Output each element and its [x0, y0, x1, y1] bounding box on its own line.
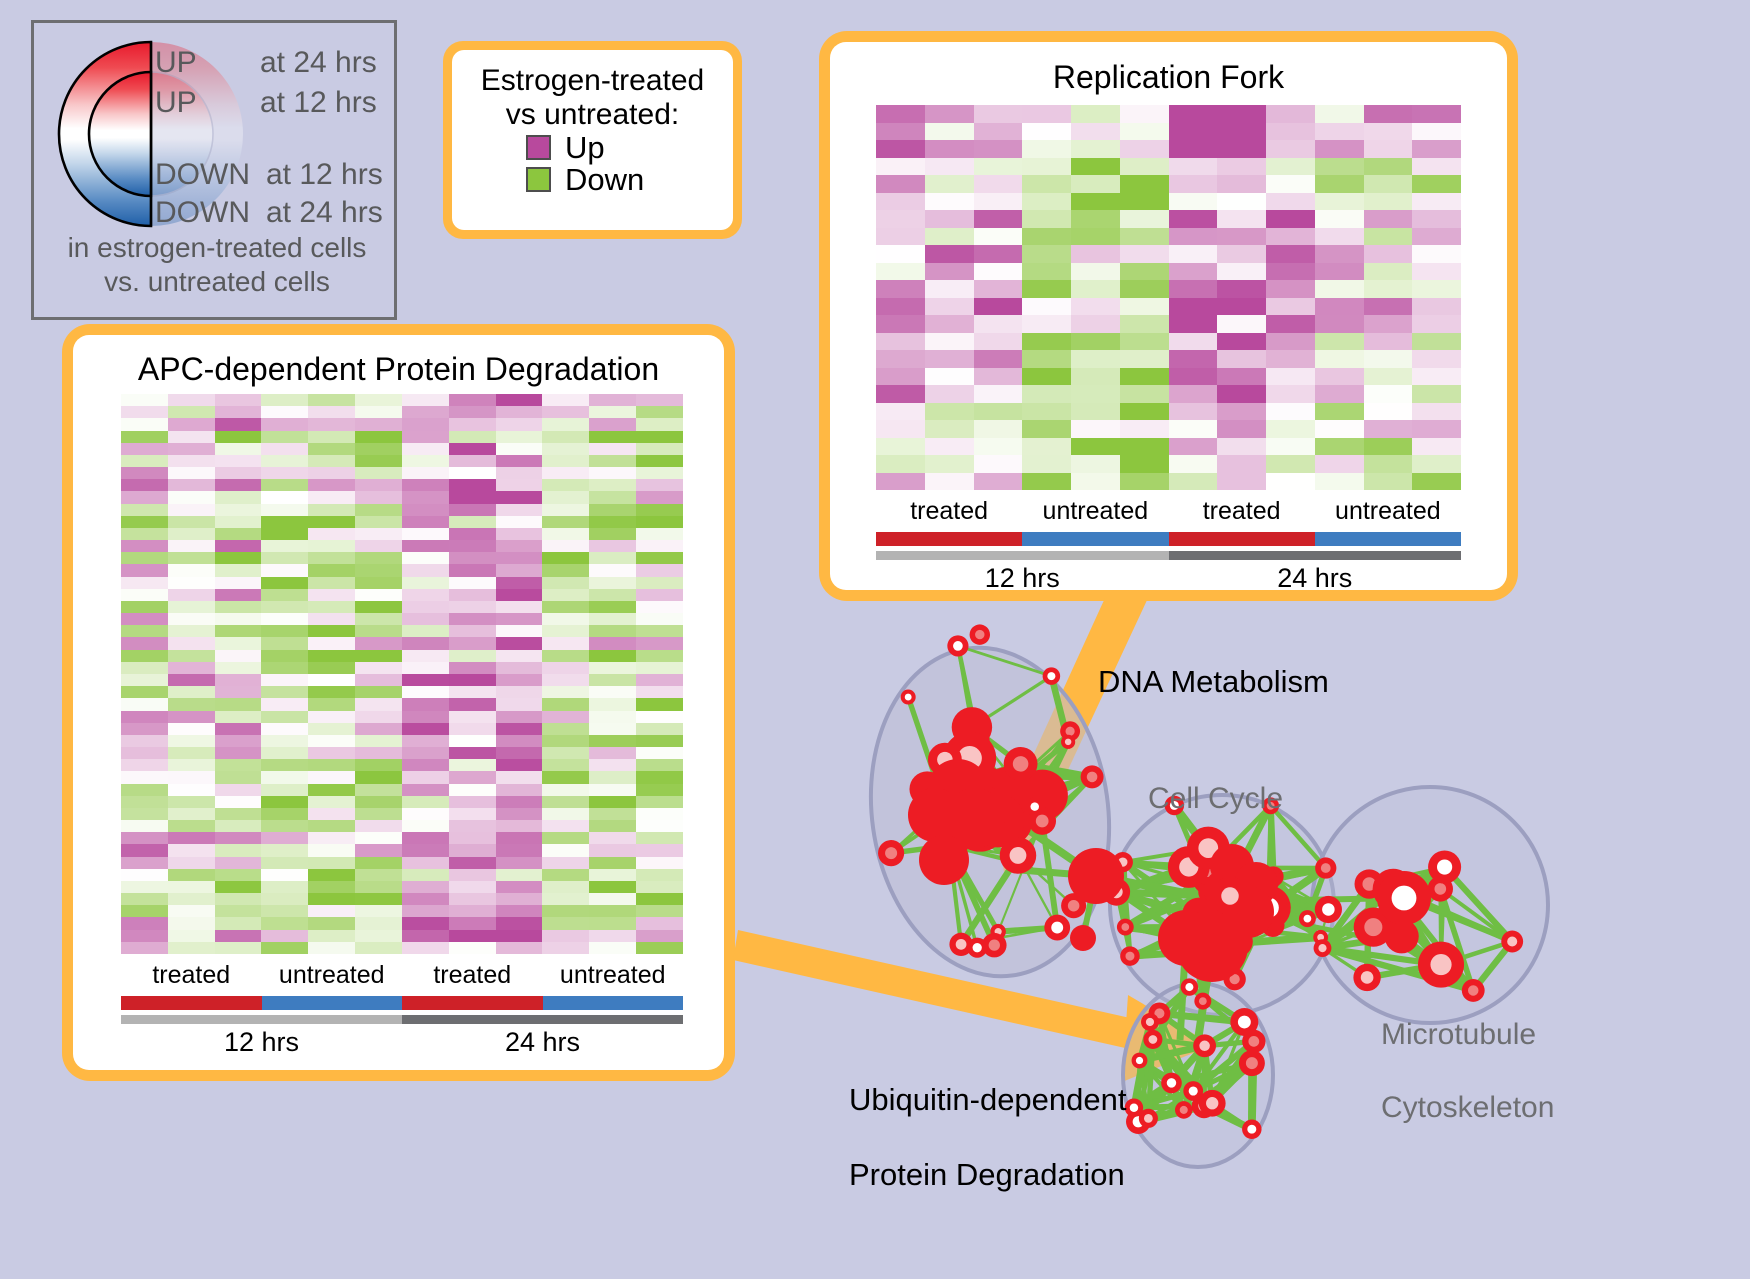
heatmap-cell	[355, 893, 402, 905]
network-edge	[1140, 987, 1190, 1060]
network-node	[1234, 862, 1278, 906]
heatmap-cell	[1266, 298, 1315, 316]
heatmap-cell	[542, 613, 589, 625]
heatmap-cell	[121, 637, 168, 649]
network-node	[1261, 914, 1284, 937]
heatmap-cell	[355, 905, 402, 917]
heatmap-cell	[496, 443, 543, 455]
network-edge	[1222, 868, 1231, 897]
heatmap-cell	[1315, 228, 1364, 246]
network-edge	[970, 758, 971, 789]
network-edge	[1402, 936, 1441, 964]
heatmap-cell	[1217, 263, 1266, 281]
cluster-ellipse	[1123, 983, 1273, 1167]
heatmap-cell	[449, 808, 496, 820]
heatmap-cell	[355, 832, 402, 844]
network-edge	[971, 789, 1042, 795]
heatmap-cell	[542, 796, 589, 808]
heatmap-cell	[636, 637, 683, 649]
heatmap-cell	[974, 105, 1023, 123]
heatmap-cell	[636, 698, 683, 710]
heatmap-cell	[1120, 315, 1169, 333]
network-node	[1205, 880, 1240, 915]
heatmap-cell	[1412, 228, 1461, 246]
heatmap-cell	[1364, 438, 1413, 456]
heatmap-cell	[1071, 315, 1120, 333]
heatmap-cell	[636, 808, 683, 820]
heatmap-cell	[496, 589, 543, 601]
network-node	[1385, 919, 1419, 953]
heatmap-cell	[449, 418, 496, 430]
heatmap-cell	[168, 613, 215, 625]
network-node	[1181, 978, 1198, 995]
network-edge	[1134, 1039, 1153, 1107]
heatmap-cell	[542, 540, 589, 552]
heatmap-cell	[589, 881, 636, 893]
network-edge	[1140, 1046, 1205, 1061]
network-node	[1263, 866, 1283, 886]
heatmap-cell	[449, 650, 496, 662]
heatmap-cell	[542, 491, 589, 503]
heatmap-cell	[1364, 245, 1413, 263]
network-edge	[1199, 914, 1203, 1001]
network-edge	[1322, 884, 1369, 948]
heatmap-cell	[121, 540, 168, 552]
network-edge	[1222, 877, 1273, 898]
heatmap-cell	[121, 881, 168, 893]
network-edge	[1222, 897, 1225, 952]
network-edge	[1441, 867, 1445, 965]
network-edge	[1223, 890, 1225, 911]
heatmap-apc	[121, 394, 683, 954]
network-edge	[1223, 925, 1273, 944]
heatmap-cell	[402, 577, 449, 589]
heatmap-cell	[1412, 193, 1461, 211]
heatmap-cell	[496, 491, 543, 503]
heatmap-cell	[636, 625, 683, 637]
network-node	[1143, 1030, 1162, 1049]
heatmap-cell	[1266, 350, 1315, 368]
network-edge	[1225, 890, 1235, 979]
sphere-legend-note: in estrogen-treated cells vs. untreated …	[34, 231, 400, 299]
heatmap-cell	[308, 589, 355, 601]
network-edge	[941, 797, 942, 808]
heatmap-cell	[261, 662, 308, 674]
heatmap-cell	[636, 711, 683, 723]
network-edge	[1321, 909, 1329, 937]
network-edge	[1184, 1063, 1252, 1110]
heatmap-cell	[542, 747, 589, 759]
heatmap-cell	[261, 820, 308, 832]
heatmap-cell	[1169, 105, 1218, 123]
heatmap-cell	[168, 455, 215, 467]
heatmap-cell	[121, 650, 168, 662]
network-edge	[1184, 1106, 1204, 1110]
heatmap-cell	[121, 418, 168, 430]
heatmap-cell	[261, 844, 308, 856]
heatmap-cell	[121, 443, 168, 455]
heatmap-cell	[402, 479, 449, 491]
heatmap-cell	[974, 263, 1023, 281]
network-node	[932, 799, 949, 816]
network-edge	[1116, 892, 1198, 914]
heatmap-cell	[355, 650, 402, 662]
network-node	[931, 827, 968, 864]
heatmap-cell	[1217, 455, 1266, 473]
network-node	[1218, 862, 1244, 888]
heatmap-cell	[449, 491, 496, 503]
network-edge	[1228, 950, 1234, 979]
heatmap-cell	[496, 784, 543, 796]
heatmap-cell	[402, 431, 449, 443]
network-edge	[1402, 889, 1441, 936]
heatmap-cell	[308, 516, 355, 528]
heatmap-cell	[636, 784, 683, 796]
network-edge	[1134, 1022, 1150, 1108]
heatmap-cell	[876, 438, 925, 456]
network-edge	[971, 789, 1015, 861]
heatmap-cell	[542, 589, 589, 601]
heatmap-cell	[261, 674, 308, 686]
heatmap-cell	[168, 832, 215, 844]
heatmap-cell	[121, 759, 168, 771]
network-edge	[1153, 1039, 1172, 1082]
heatmap-cell	[925, 245, 974, 263]
heatmap-cell	[402, 796, 449, 808]
network-edge	[1223, 908, 1269, 911]
heatmap-cell	[168, 577, 215, 589]
network-edge	[1188, 897, 1226, 935]
network-edge	[1216, 872, 1269, 907]
heatmap-cell	[1120, 140, 1169, 158]
network-edge	[970, 758, 983, 810]
heatmap-cell	[1266, 403, 1315, 421]
network-edge	[941, 808, 1011, 823]
heatmap-cell	[355, 747, 402, 759]
legend-item-up: Up	[526, 132, 723, 163]
network-edge	[977, 776, 1092, 777]
heatmap-cell	[1071, 123, 1120, 141]
heatmap-cell	[1364, 298, 1413, 316]
network-edge	[1212, 1022, 1244, 1103]
heatmap-cell	[402, 674, 449, 686]
heatmap-cell	[168, 431, 215, 443]
heatmap-cell	[589, 808, 636, 820]
heatmap-cell	[261, 698, 308, 710]
heatmap-cell	[168, 540, 215, 552]
heatmap-cell	[355, 467, 402, 479]
heatmap-cell	[1364, 385, 1413, 403]
heatmap-cell	[168, 869, 215, 881]
network-edge	[1216, 872, 1223, 897]
network-node	[1242, 1119, 1261, 1138]
heatmap-cell	[974, 455, 1023, 473]
network-edge	[1042, 777, 1092, 821]
heatmap-cell	[1169, 158, 1218, 176]
heatmap-cell	[215, 637, 262, 649]
network-edge	[1195, 871, 1224, 930]
network-edge	[1223, 909, 1328, 910]
network-edge	[949, 795, 1042, 845]
network-node	[1210, 898, 1237, 925]
network-edge	[1208, 848, 1231, 868]
network-edge	[1212, 1041, 1254, 1103]
network-node	[1373, 869, 1414, 910]
network-edge	[1219, 926, 1320, 937]
heatmap-cell	[1169, 263, 1218, 281]
heatmap-cell	[496, 796, 543, 808]
network-node	[1210, 844, 1254, 888]
heatmap-cell	[496, 467, 543, 479]
heatmap-cell	[542, 723, 589, 735]
heatmap-cell	[449, 747, 496, 759]
column-group-label: treated	[121, 961, 262, 990]
heatmap-cell	[496, 808, 543, 820]
heatmap-cell	[542, 735, 589, 747]
network-edge	[1204, 1046, 1205, 1106]
heatmap-cell	[261, 650, 308, 662]
heatmap-cell	[636, 857, 683, 869]
heatmap-cell	[355, 577, 402, 589]
heatmap-cell	[261, 601, 308, 613]
network-edge	[985, 800, 1096, 876]
heatmap-cell	[496, 735, 543, 747]
heatmap-cell	[589, 917, 636, 929]
heatmap-cell	[261, 881, 308, 893]
network-edge	[1150, 1013, 1159, 1022]
network-edge	[1218, 908, 1268, 945]
heatmap-cell	[355, 698, 402, 710]
network-node	[971, 793, 1025, 847]
network-edge	[1195, 868, 1232, 930]
network-edge	[1231, 868, 1328, 910]
network-edge	[1322, 927, 1373, 948]
heatmap-cell	[308, 504, 355, 516]
network-edge	[1193, 1091, 1212, 1103]
heatmap-cell	[974, 228, 1023, 246]
network-edge	[970, 758, 1043, 821]
column-group-label: untreated	[1022, 497, 1168, 526]
network-edge	[1225, 868, 1231, 897]
network-edge	[1199, 848, 1208, 914]
heatmap-cell	[1022, 298, 1071, 316]
heatmap-cell	[496, 650, 543, 662]
network-node	[1222, 859, 1241, 878]
heatmap-cell	[121, 917, 168, 929]
heatmap-cell	[974, 350, 1023, 368]
network-edge	[983, 764, 1021, 811]
network-edge	[1218, 879, 1268, 944]
network-edge	[1159, 1013, 1171, 1083]
heatmap-cell	[121, 796, 168, 808]
heatmap-cell	[402, 443, 449, 455]
heatmap-cell	[542, 431, 589, 443]
network-node	[1132, 1053, 1148, 1069]
network-node	[1199, 846, 1248, 895]
network-edge	[980, 811, 983, 825]
network-edge	[1021, 764, 1035, 807]
heatmap-cell	[589, 431, 636, 443]
network-node	[1201, 931, 1243, 973]
network-edge	[1393, 867, 1444, 889]
network-edge	[1235, 942, 1238, 980]
heatmap-cell	[1412, 455, 1461, 473]
heatmap-cell	[496, 930, 543, 942]
heatmap-cell	[355, 881, 402, 893]
heatmap-cell	[636, 893, 683, 905]
heatmap-cell	[121, 820, 168, 832]
heatmap-cell	[1315, 158, 1364, 176]
network-edge	[949, 846, 977, 948]
heatmap-cell	[308, 686, 355, 698]
heatmap-cell	[261, 796, 308, 808]
panel-title-replication-fork: Replication Fork	[830, 59, 1507, 96]
heatmap-cell	[1217, 245, 1266, 263]
heatmap-cell	[1315, 105, 1364, 123]
network-edge	[1224, 868, 1232, 871]
heatmap-cell	[1022, 228, 1071, 246]
heatmap-cell	[636, 674, 683, 686]
heatmap-cell	[402, 832, 449, 844]
heatmap-cell	[876, 158, 925, 176]
heatmap-cell	[1169, 473, 1218, 491]
network-edge	[983, 795, 1042, 810]
network-edge	[1204, 1041, 1254, 1106]
heatmap-cell	[925, 263, 974, 281]
heatmap-cell	[449, 698, 496, 710]
network-node	[1182, 898, 1215, 931]
network-edge	[1322, 889, 1393, 948]
network-edge	[1225, 868, 1326, 890]
heatmap-cell	[1315, 193, 1364, 211]
heatmap-cell	[308, 857, 355, 869]
heatmap-cell	[215, 881, 262, 893]
heatmap-cell	[542, 418, 589, 430]
heatmap-cell	[925, 455, 974, 473]
heatmap-cell	[496, 686, 543, 698]
heatmap-cell	[261, 784, 308, 796]
network-edge	[971, 776, 977, 790]
heatmap-cell	[261, 516, 308, 528]
heatmap-cell	[1412, 350, 1461, 368]
heatmap-cell	[496, 881, 543, 893]
heatmap-cell	[636, 723, 683, 735]
heatmap-cell	[876, 280, 925, 298]
heatmap-cell	[496, 406, 543, 418]
heatmap-cell	[1217, 403, 1266, 421]
network-edge	[1440, 889, 1473, 991]
heatmap-cell	[1364, 368, 1413, 386]
network-edge	[941, 808, 980, 824]
heatmap-cell	[449, 893, 496, 905]
network-node	[1070, 925, 1096, 951]
heatmap-cell	[355, 540, 402, 552]
sphere-label-down-12: DOWN	[155, 158, 250, 192]
heatmap-cell	[402, 613, 449, 625]
heatmap-cell	[1022, 350, 1071, 368]
time-color-bar-replication-fork	[876, 551, 1461, 560]
network-edge	[958, 646, 978, 741]
heatmap-cell	[121, 552, 168, 564]
heatmap-cell	[261, 686, 308, 698]
heatmap-cell	[542, 808, 589, 820]
network-edge	[1252, 1041, 1254, 1063]
network-edge	[1193, 1022, 1244, 1091]
network-edge	[1203, 926, 1219, 1001]
heatmap-cell	[1412, 210, 1461, 228]
heatmap-cell	[215, 735, 262, 747]
heatmap-cell	[1022, 438, 1071, 456]
network-edge	[1140, 1022, 1150, 1061]
heatmap-cell	[215, 418, 262, 430]
heatmap-cell	[215, 601, 262, 613]
heatmap-cell	[121, 674, 168, 686]
heatmap-cell	[636, 528, 683, 540]
heatmap-cell	[876, 245, 925, 263]
network-node	[1161, 1073, 1182, 1094]
sphere-time-down-12: at 12 hrs	[266, 158, 383, 192]
heatmap-cell	[1217, 228, 1266, 246]
heatmap-cell	[974, 385, 1023, 403]
heatmap-cell	[308, 431, 355, 443]
heatmap-cell	[1266, 473, 1315, 491]
network-edge	[1208, 870, 1223, 911]
network-node	[1179, 914, 1211, 946]
panel-replication-fork-inner: Replication Fork treateduntreatedtreated…	[830, 42, 1507, 590]
heatmap-cell	[974, 333, 1023, 351]
heatmap-cell	[1315, 315, 1364, 333]
heatmap-cell	[1364, 420, 1413, 438]
network-edge	[1188, 935, 1229, 950]
network-node	[1242, 1030, 1265, 1053]
network-edge	[1269, 877, 1274, 879]
network-edge	[1123, 862, 1227, 892]
heatmap-cell	[308, 577, 355, 589]
heatmap-cell	[1412, 315, 1461, 333]
network-edge	[1189, 867, 1223, 897]
network-edge	[1269, 879, 1308, 919]
network-edge	[1189, 848, 1208, 867]
network-node	[952, 797, 1007, 852]
heatmap-cell	[925, 385, 974, 403]
network-edge	[1223, 871, 1224, 944]
heatmap-cell	[168, 771, 215, 783]
network-node	[1060, 721, 1080, 741]
heatmap-cell	[542, 820, 589, 832]
heatmap-cell	[1217, 210, 1266, 228]
heatmap-cell	[1364, 140, 1413, 158]
heatmap-cell	[589, 479, 636, 491]
heatmap-cell	[215, 613, 262, 625]
heatmap-cell	[589, 564, 636, 576]
heatmap-cell	[1071, 333, 1120, 351]
heatmap-cell	[402, 784, 449, 796]
panel-apc-degradation: APC-dependent Protein Degradation treate…	[62, 324, 735, 1081]
network-edge	[1204, 1106, 1252, 1129]
heatmap-cell	[449, 674, 496, 686]
heatmap-cell	[449, 942, 496, 954]
heatmap-cell	[1120, 105, 1169, 123]
network-edge	[971, 789, 1018, 855]
heatmap-cell	[1071, 210, 1120, 228]
network-node	[1120, 946, 1140, 966]
network-edge	[927, 789, 941, 808]
heatmap-cell	[308, 650, 355, 662]
heatmap-cell	[542, 516, 589, 528]
network-node	[1028, 807, 1056, 835]
network-node	[982, 933, 1007, 958]
network-edge	[1140, 1061, 1204, 1106]
